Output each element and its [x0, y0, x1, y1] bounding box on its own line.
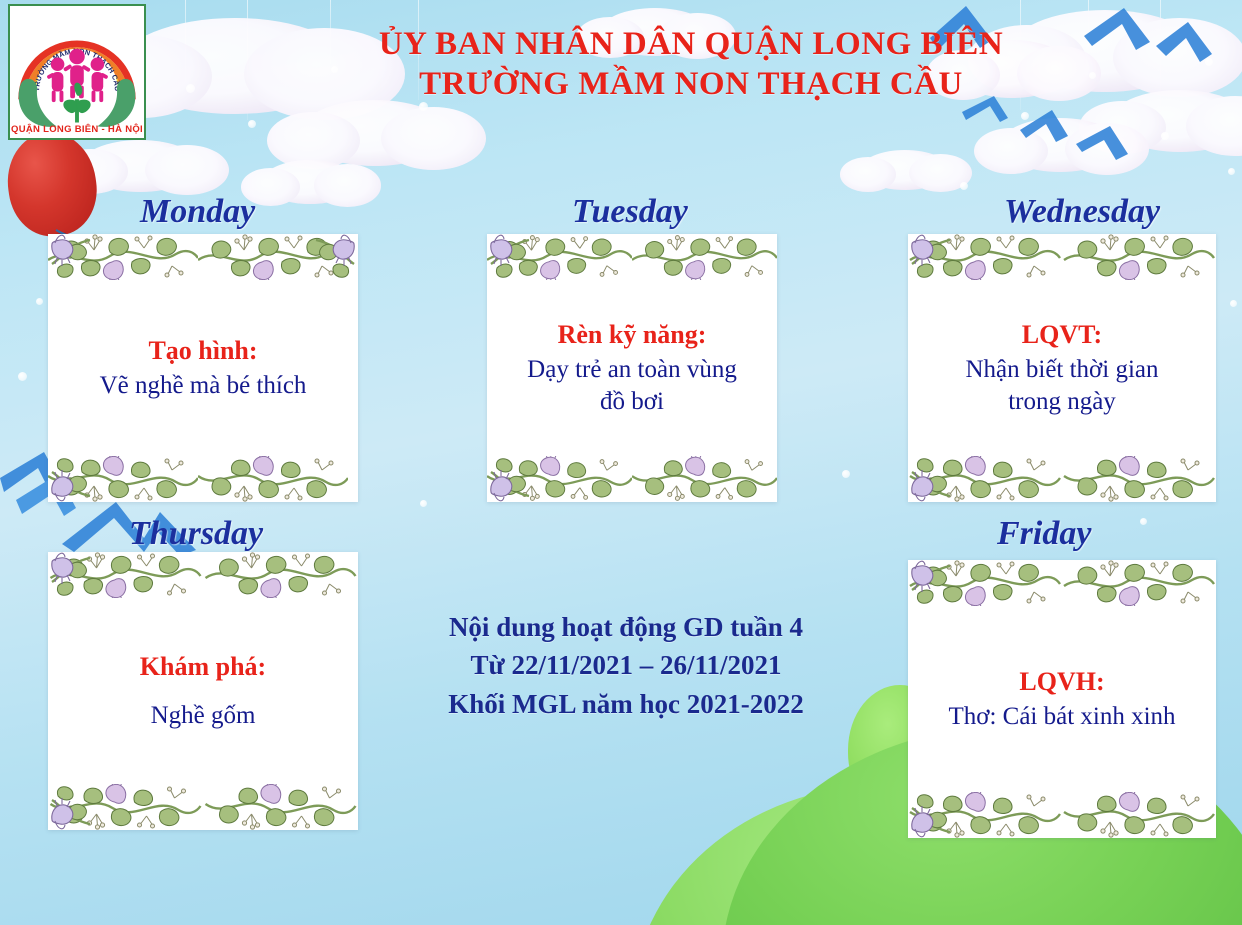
day-label-friday: Friday	[997, 515, 1091, 553]
week-info-line-3: Khối MGL năm học 2021-2022	[372, 685, 880, 723]
cloud-shape	[300, 100, 450, 166]
sparkle-dot	[1161, 132, 1169, 140]
sparkle-dot	[18, 372, 27, 381]
logo-caption: QUẬN LONG BIÊN - HÀ NỘI	[10, 124, 144, 135]
floral-border-icon	[731, 234, 777, 502]
logo-emblem-icon: TRƯỜNG MẦM NON THẠCH CẦU	[10, 6, 144, 138]
sparkle-dot	[1021, 112, 1029, 120]
school-logo: TRƯỜNG MẦM NON THẠCH CẦU QUẬN LONG BIÊN …	[8, 4, 146, 140]
floral-border-icon	[312, 552, 358, 830]
card-activity-monday: Vẽ nghề mà bé thích	[100, 370, 307, 402]
day-label-monday: Monday	[140, 193, 255, 231]
cloud-shape	[860, 150, 950, 190]
floral-border-icon	[48, 784, 358, 830]
card-subject-thursday: Khám phá:	[140, 651, 266, 682]
sparkle-dot	[1228, 168, 1235, 175]
floral-border-icon	[908, 560, 954, 838]
ribbon-streamer-icon	[960, 92, 1180, 182]
floral-border-icon	[48, 552, 358, 598]
floral-border-icon	[48, 234, 94, 502]
cloud-shape	[80, 140, 200, 192]
floral-border-icon	[48, 234, 358, 280]
title-line-2: TRƯỜNG MẦM NON THẠCH CẦU	[150, 64, 1232, 104]
sparkle-dot	[420, 500, 427, 507]
sparkle-dot	[1230, 300, 1237, 307]
title-line-1: ỦY BAN NHÂN DÂN QUẬN LONG BIÊN	[150, 24, 1232, 64]
card-activity-thursday: Nghề gốm	[151, 700, 256, 732]
sparkle-dot	[960, 182, 968, 190]
card-activity-tuesday: Dạy trẻ an toàn vùng đồ bơi	[527, 354, 737, 417]
cloud-shape	[262, 160, 358, 204]
floral-border-icon	[1170, 234, 1216, 502]
floral-border-icon	[48, 456, 358, 502]
card-subject-wednesday: LQVT:	[1022, 319, 1102, 350]
sparkle-dot	[1140, 518, 1147, 525]
red-balloon	[1, 126, 103, 241]
card-subject-monday: Tạo hình:	[148, 335, 257, 366]
floral-border-icon	[1170, 560, 1216, 838]
card-activity-wednesday: Nhận biết thời gian trong ngày	[948, 354, 1176, 417]
schedule-card-thursday[interactable]: Khám phá: Nghề gốm	[48, 552, 358, 830]
floral-border-icon	[908, 456, 1216, 502]
week-info-line-1: Nội dung hoạt động GD tuần 4	[372, 608, 880, 646]
sparkle-dot	[248, 120, 256, 128]
cloud-shape	[1000, 118, 1120, 172]
week-info-block: Nội dung hoạt động GD tuần 4 Từ 22/11/20…	[372, 608, 880, 723]
sparkle-dot	[842, 470, 850, 478]
floral-border-icon	[487, 234, 777, 280]
day-label-wednesday: Wednesday	[1004, 193, 1160, 231]
week-info-line-2: Từ 22/11/2021 – 26/11/2021	[372, 646, 880, 684]
card-subject-friday: LQVH:	[1019, 666, 1104, 697]
schedule-card-monday[interactable]: Tạo hình: Vẽ nghề mà bé thích	[48, 234, 358, 502]
schedule-card-wednesday[interactable]: LQVT: Nhận biết thời gian trong ngày	[908, 234, 1216, 502]
schedule-card-tuesday[interactable]: Rèn kỹ năng: Dạy trẻ an toàn vùng đồ bơi	[487, 234, 777, 502]
card-activity-friday: Thơ: Cái bát xinh xinh	[948, 701, 1175, 733]
floral-border-icon	[908, 560, 1216, 606]
page-title: ỦY BAN NHÂN DÂN QUẬN LONG BIÊN TRƯỜNG MẦ…	[150, 24, 1232, 105]
floral-border-icon	[48, 552, 94, 830]
floral-border-icon	[908, 792, 1216, 838]
floral-border-icon	[908, 234, 1216, 280]
schedule-card-friday[interactable]: LQVH: Thơ: Cái bát xinh xinh	[908, 560, 1216, 838]
sparkle-dot	[36, 298, 43, 305]
floral-border-icon	[487, 456, 777, 502]
floral-border-icon	[312, 234, 358, 502]
card-subject-tuesday: Rèn kỹ năng:	[558, 319, 707, 350]
day-label-tuesday: Tuesday	[572, 193, 688, 231]
day-label-thursday: Thursday	[129, 515, 263, 553]
